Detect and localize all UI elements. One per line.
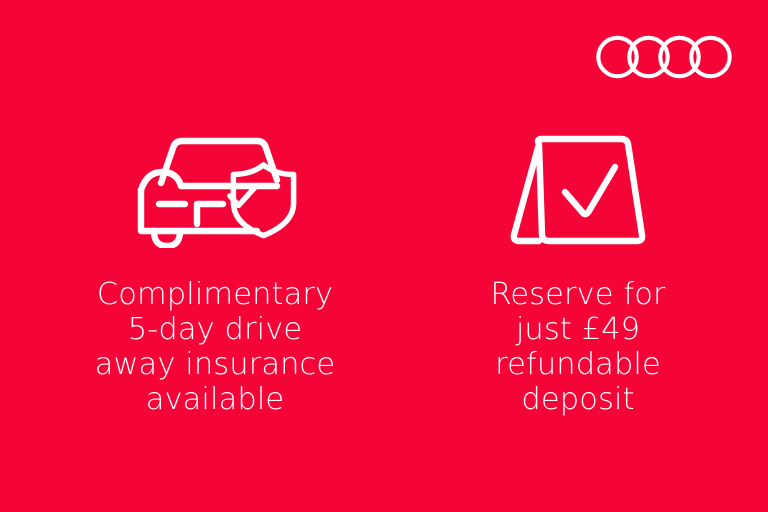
car-shield-icon — [129, 120, 301, 255]
feature-deposit: Reserve for just £49 refundable deposit — [413, 120, 743, 417]
promo-banner: Complimentary 5-day drive away insurance… — [0, 0, 768, 512]
feature-insurance-caption: Complimentary 5-day drive away insurance… — [95, 277, 336, 417]
feature-insurance: Complimentary 5-day drive away insurance… — [50, 120, 380, 417]
audi-four-rings-icon — [596, 33, 732, 81]
tent-card-check-icon — [492, 120, 664, 255]
feature-deposit-caption: Reserve for just £49 refundable deposit — [490, 277, 665, 417]
